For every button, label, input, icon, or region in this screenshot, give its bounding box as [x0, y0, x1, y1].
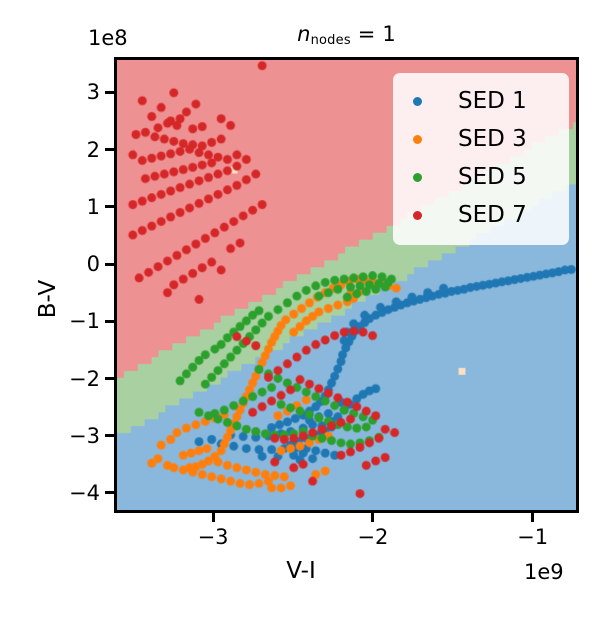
y-tick — [105, 491, 114, 494]
y-tick — [105, 434, 114, 437]
y-tick-label: 2 — [87, 138, 100, 162]
title-equals: = — [351, 22, 383, 46]
y-tick-label: −1 — [69, 309, 100, 333]
x-tick — [531, 513, 534, 522]
y-tick — [105, 148, 114, 151]
title-value: 1 — [382, 22, 396, 46]
x-tick — [371, 513, 374, 522]
x-axis-label: V-I — [0, 558, 602, 584]
title-symbol: n — [297, 22, 311, 46]
legend-marker-icon — [413, 211, 422, 220]
x-tick — [212, 513, 215, 522]
y-tick-label: 0 — [87, 252, 100, 276]
legend-item-sed-3[interactable]: SED 3 — [405, 120, 557, 158]
x-tick-label: −3 — [198, 525, 229, 549]
legend-label: SED 3 — [458, 126, 527, 152]
y-tick-label: −3 — [69, 424, 100, 448]
legend-label: SED 1 — [458, 88, 527, 114]
legend-item-sed-7[interactable]: SED 7 — [405, 196, 557, 234]
y-axis-label-text: B-V — [35, 279, 61, 317]
legend-item-sed-5[interactable]: SED 5 — [405, 158, 557, 196]
x-tick-label: −2 — [357, 525, 388, 549]
legend-label: SED 5 — [458, 164, 527, 190]
legend-marker-icon — [413, 135, 422, 144]
y-tick — [105, 377, 114, 380]
y-tick-label: −2 — [69, 367, 100, 391]
legend-item-sed-1[interactable]: SED 1 — [405, 82, 557, 120]
y-tick — [105, 320, 114, 323]
legend-marker-icon — [413, 97, 422, 106]
legend-marker-icon — [413, 173, 422, 182]
y-tick-label: 3 — [87, 80, 100, 104]
y-tick — [105, 263, 114, 266]
plot-title: nnodes = 1 — [114, 22, 579, 46]
y-tick — [105, 205, 114, 208]
y-axis-offset-text: 1e8 — [88, 26, 128, 50]
y-tick-label: −4 — [69, 481, 100, 505]
scatter-plot-figure: nnodes = 1 1e8 1e9 V-I B-V SED 1SED 3SED… — [0, 0, 602, 622]
legend-label: SED 7 — [458, 202, 527, 228]
title-subscript: nodes — [311, 33, 351, 48]
y-tick-label: 1 — [87, 195, 100, 219]
x-tick-label: −1 — [517, 525, 548, 549]
legend[interactable]: SED 1SED 3SED 5SED 7 — [393, 73, 569, 245]
y-tick — [105, 91, 114, 94]
